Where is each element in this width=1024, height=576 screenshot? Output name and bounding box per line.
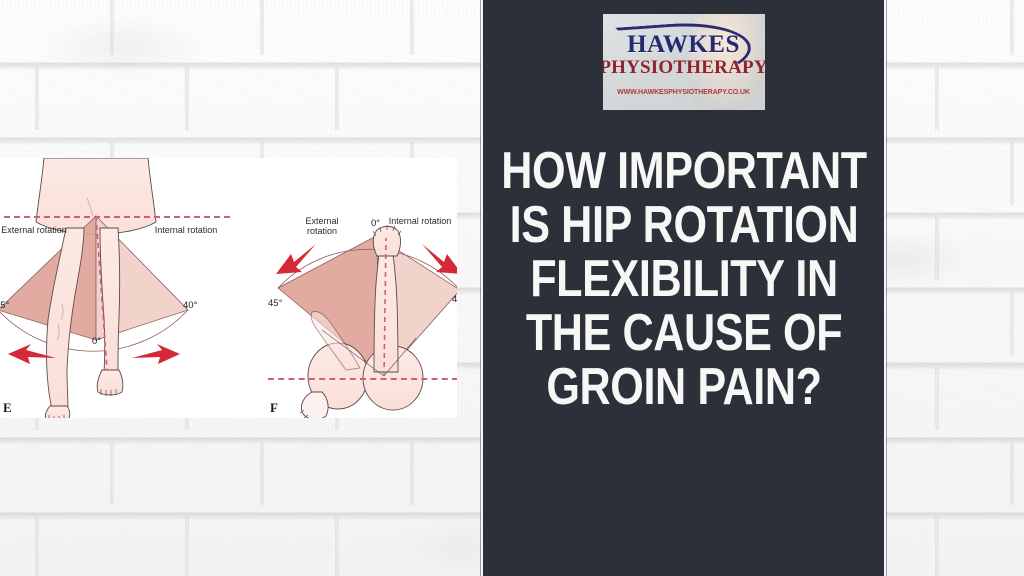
panel-f-internal-rotation-label: Internal rotation bbox=[388, 216, 452, 226]
logo-secondary-text: PHYSIOTHERAPY bbox=[603, 58, 765, 77]
external-rotation-arrow-f bbox=[276, 244, 316, 274]
internal-rotation-arrow-e bbox=[132, 344, 180, 364]
panel-f-letter: F bbox=[270, 400, 278, 416]
hawkes-physiotherapy-logo[interactable]: HAWKES PHYSIOTHERAPY WWW.HAWKESPHYSIOTHE… bbox=[603, 14, 765, 110]
panel-f-illustration bbox=[250, 210, 457, 418]
page-title: HOW IMPORTANT IS HIP ROTATION FLEXIBILIT… bbox=[489, 144, 877, 414]
panel-f-internal-degrees: 40° bbox=[452, 294, 457, 305]
panel-f-external-degrees: 45° bbox=[268, 298, 282, 309]
panel-f-external-rotation-label: External rotation bbox=[290, 216, 354, 237]
logo-website-url: WWW.HAWKESPHYSIOTHERAPY.CO.UK bbox=[617, 89, 750, 96]
panel-e-illustration bbox=[0, 158, 252, 418]
panel-e-neutral-degrees: 0° bbox=[92, 336, 101, 347]
panel-e-external-degrees: 45° bbox=[0, 300, 9, 311]
panel-e-neutral-axis bbox=[0, 216, 230, 218]
panel-e-letter: E bbox=[3, 400, 12, 416]
panel-e-internal-rotation-label: Internal rotation bbox=[150, 225, 222, 235]
panel-e-external-rotation-label: External rotation bbox=[0, 225, 70, 235]
panel-f-neutral-axis bbox=[268, 378, 457, 380]
anatomy-figure-card: External rotation Internal rotation 45° … bbox=[0, 158, 457, 418]
title-panel: HAWKES PHYSIOTHERAPY WWW.HAWKESPHYSIOTHE… bbox=[481, 0, 886, 576]
panel-e-internal-degrees: 40° bbox=[183, 300, 197, 311]
logo-primary-text: HAWKES bbox=[627, 32, 740, 57]
panel-f-neutral-degrees: 0° bbox=[371, 218, 380, 229]
